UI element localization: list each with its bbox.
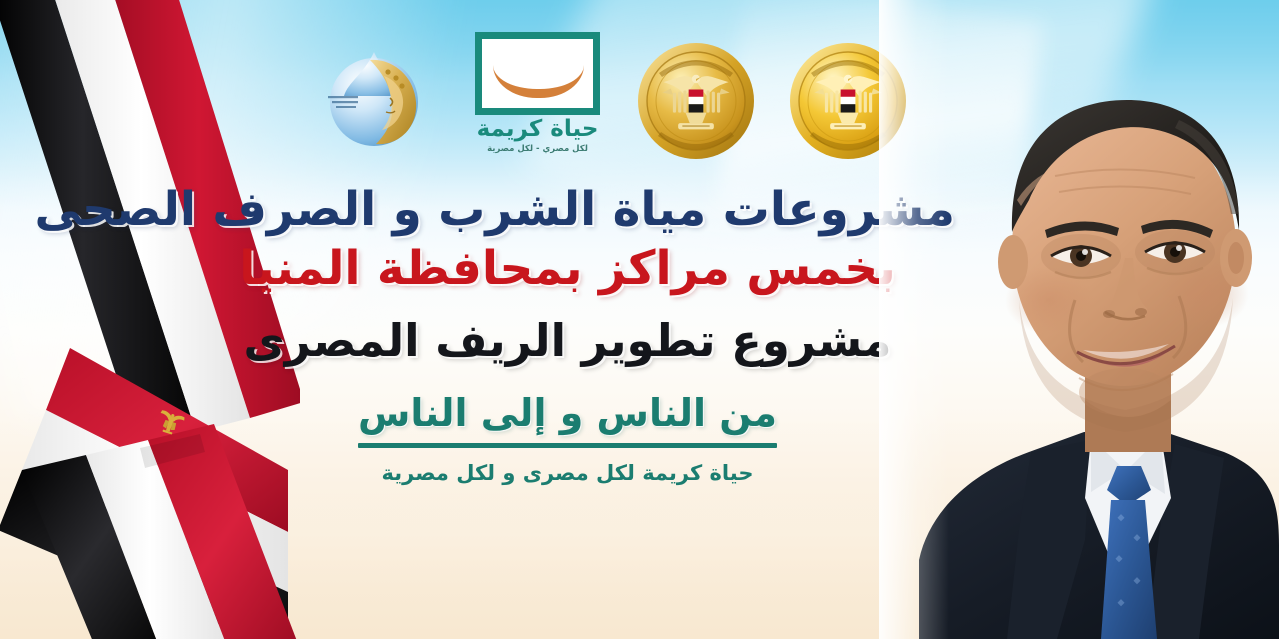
hayah-karima-logo: حياة كريمة لكل مصري - لكل مصرية — [465, 32, 610, 182]
smile-icon — [493, 65, 584, 98]
headline-line-1: مشروعات مياة الشرب و الصرف الصحى — [180, 185, 955, 236]
poster-canvas: حياة كريمة لكل مصري - لكل مصرية — [0, 0, 1279, 639]
headline-line-2: بخمس مراكز بمحافظة المنيا — [180, 244, 955, 295]
hayah-karima-frame — [475, 32, 600, 115]
headline-block: مشروعات مياة الشرب و الصرف الصحى بخمس مر… — [180, 185, 955, 485]
slogan-group: من الناس و إلى الناس حياة كريمة لكل مصرى… — [344, 393, 791, 485]
headline-line-3: مشروع تطوير الريف المصرى — [180, 317, 955, 366]
logo-row: حياة كريمة لكل مصري - لكل مصرية — [300, 18, 940, 183]
head — [998, 100, 1252, 432]
slogan-text: من الناس و إلى الناس — [358, 393, 777, 434]
president-portrait — [879, 0, 1279, 639]
egypt-cabinet-gold-medallion — [635, 40, 757, 162]
water-droplet-nefertiti-logo — [318, 40, 436, 158]
footer-tagline: حياة كريمة لكل مصرى و لكل مصرية — [358, 461, 777, 485]
slogan-underline — [358, 443, 777, 448]
suit — [919, 430, 1279, 639]
hayah-karima-title: حياة كريمة — [465, 118, 610, 141]
hayah-karima-tagline: لكل مصري - لكل مصرية — [465, 144, 610, 154]
